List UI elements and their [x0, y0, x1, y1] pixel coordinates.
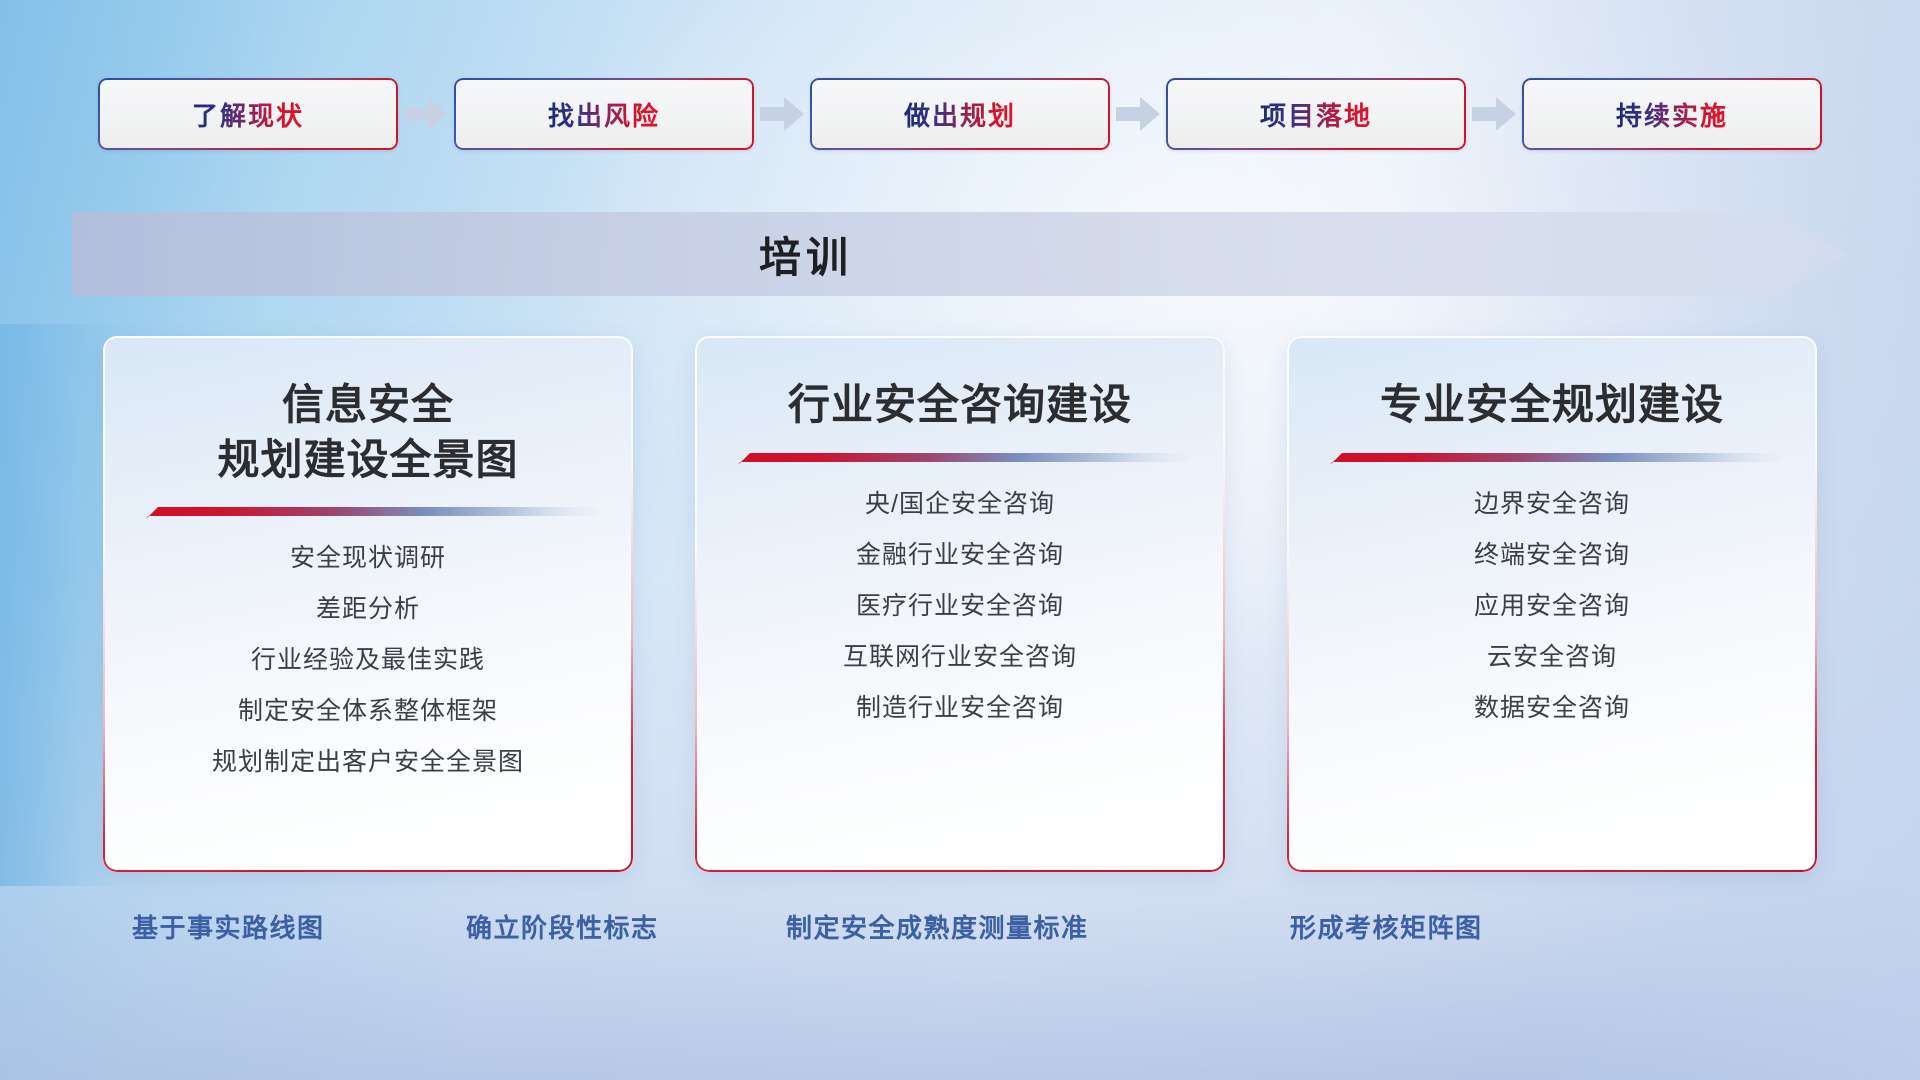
- card-item-list: 央/国企安全咨询 金融行业安全咨询 医疗行业安全咨询 互联网行业安全咨询 制造行…: [695, 492, 1225, 747]
- card-professional-security-planning[interactable]: 专业安全规划建设 边界安全咨询 终端安全咨询 应用安全咨询 云安全咨询 数据安全…: [1287, 336, 1817, 872]
- card-divider-gradient: [1322, 451, 1782, 466]
- card-title-line1: 信息安全: [217, 378, 518, 433]
- list-item: 云安全咨询: [1287, 645, 1817, 670]
- training-band-label: 培训: [759, 224, 853, 285]
- card-divider-gradient: [730, 451, 1190, 466]
- caption-row: 基于事实路线图 确立阶段性标志 制定安全成熟度测量标准 形成考核矩阵图: [0, 908, 1920, 968]
- training-band-label-wrap: 培训: [0, 208, 1612, 300]
- step-item-1[interactable]: 了解现状: [98, 78, 398, 150]
- list-item: 差距分析: [103, 597, 633, 622]
- caption-milestones: 确立阶段性标志: [466, 908, 659, 945]
- list-item: 边界安全咨询: [1287, 492, 1817, 517]
- caption-maturity: 制定安全成熟度测量标准: [786, 908, 1089, 945]
- step-item-5[interactable]: 持续实施: [1522, 78, 1822, 150]
- arrow-right-icon: [754, 78, 810, 150]
- list-item: 安全现状调研: [103, 546, 633, 571]
- list-item: 行业经验及最佳实践: [103, 648, 633, 673]
- card-title: 信息安全 规划建设全景图: [197, 378, 538, 487]
- step-item-2[interactable]: 找出风险: [454, 78, 754, 150]
- card-row: 信息安全 规划建设全景图 安全现状调研 差距分析 行业经验及最佳实践 制定安全体…: [0, 336, 1920, 872]
- card-item-list: 安全现状调研 差距分析 行业经验及最佳实践 制定安全体系整体框架 规划制定出客户…: [103, 546, 633, 801]
- card-title-line1: 专业安全规划建设: [1380, 378, 1724, 433]
- list-item: 制造行业安全咨询: [695, 696, 1225, 721]
- step-item-4[interactable]: 项目落地: [1166, 78, 1466, 150]
- list-item: 制定安全体系整体框架: [103, 699, 633, 724]
- card-item-list: 边界安全咨询 终端安全咨询 应用安全咨询 云安全咨询 数据安全咨询: [1287, 492, 1817, 747]
- step-label: 了解现状: [192, 96, 304, 133]
- list-item: 规划制定出客户安全全景图: [103, 750, 633, 775]
- card-title: 专业安全规划建设: [1360, 378, 1744, 433]
- step-label: 项目落地: [1260, 96, 1372, 133]
- process-step-flow: 了解现状 找出风险 做出规划 项目落地 持续实施: [0, 78, 1920, 150]
- step-label: 做出规划: [904, 96, 1016, 133]
- list-item: 金融行业安全咨询: [695, 543, 1225, 568]
- card-divider-gradient: [138, 505, 598, 520]
- arrow-right-icon: [1466, 78, 1522, 150]
- step-item-3[interactable]: 做出规划: [810, 78, 1110, 150]
- step-label: 持续实施: [1616, 96, 1728, 133]
- list-item: 医疗行业安全咨询: [695, 594, 1225, 619]
- card-information-security[interactable]: 信息安全 规划建设全景图 安全现状调研 差距分析 行业经验及最佳实践 制定安全体…: [103, 336, 633, 872]
- caption-roadmap: 基于事实路线图: [132, 908, 325, 945]
- arrow-right-icon: [1110, 78, 1166, 150]
- caption-matrix: 形成考核矩阵图: [1290, 908, 1483, 945]
- list-item: 央/国企安全咨询: [695, 492, 1225, 517]
- list-item: 数据安全咨询: [1287, 696, 1817, 721]
- card-title-line2: 规划建设全景图: [217, 433, 518, 488]
- card-industry-security-consulting[interactable]: 行业安全咨询建设 央/国企安全咨询 金融行业安全咨询 医疗行业安全咨询 互联网行…: [695, 336, 1225, 872]
- list-item: 终端安全咨询: [1287, 543, 1817, 568]
- list-item: 互联网行业安全咨询: [695, 645, 1225, 670]
- arrow-right-icon: [398, 78, 454, 150]
- step-label: 找出风险: [548, 96, 660, 133]
- list-item: 应用安全咨询: [1287, 594, 1817, 619]
- card-title: 行业安全咨询建设: [768, 378, 1152, 433]
- card-title-line1: 行业安全咨询建设: [788, 378, 1132, 433]
